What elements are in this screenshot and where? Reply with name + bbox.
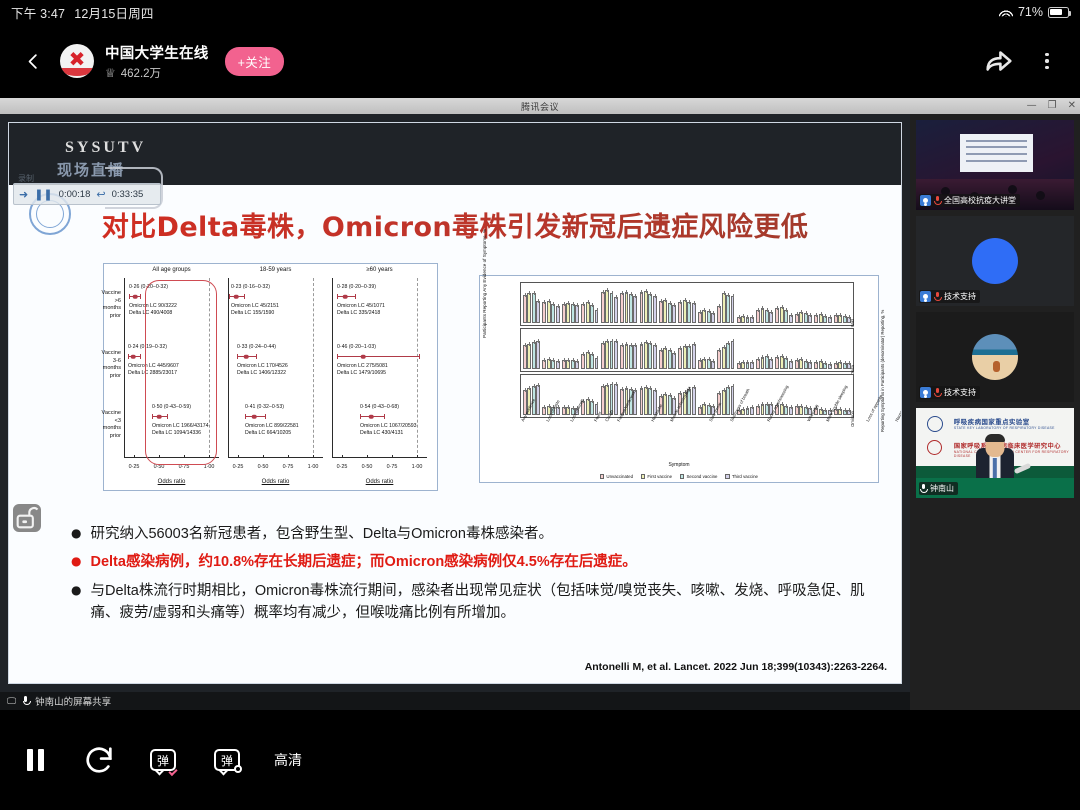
bar xyxy=(722,293,726,323)
bar xyxy=(726,343,730,369)
bar xyxy=(784,358,788,369)
row-estimate: 0·28 (0·20–0·39) xyxy=(337,284,376,290)
participant-name: 技术支持 xyxy=(944,291,976,302)
bar-group-row xyxy=(523,331,851,369)
bullet-text: Delta感染病例，约10.8%存在长期后遗症；而Omicron感染病例仅4.5… xyxy=(90,551,636,573)
bar xyxy=(595,358,599,369)
mic-active-icon xyxy=(920,484,927,494)
bar xyxy=(532,342,536,369)
bar xyxy=(640,344,644,369)
bar xyxy=(784,310,788,323)
bar xyxy=(702,310,706,323)
bar xyxy=(523,345,527,369)
bar-group xyxy=(737,285,754,323)
channel-meta: ♕ 462.2万 xyxy=(105,65,209,81)
bar xyxy=(640,292,644,323)
participant-tile[interactable]: 技术支持 xyxy=(916,216,1074,306)
bar-group xyxy=(601,331,618,369)
maximize-button[interactable]: ❐ xyxy=(1048,101,1057,111)
bar xyxy=(586,302,590,323)
bar-group xyxy=(542,331,559,369)
axis-tick-label: 0·25 xyxy=(337,464,348,470)
axis-tick xyxy=(417,455,418,458)
recording-label: 录制 xyxy=(18,173,34,184)
panel-baseline xyxy=(228,457,323,458)
bar xyxy=(838,315,842,323)
minimize-button[interactable]: — xyxy=(1027,101,1037,111)
bar xyxy=(838,362,842,369)
bar xyxy=(717,350,721,369)
status-date: 12月15日周四 xyxy=(74,3,153,22)
bar xyxy=(799,312,803,323)
bar xyxy=(629,345,633,369)
bar xyxy=(750,317,754,323)
axis-tick xyxy=(288,455,289,458)
axis-tick-label: 0·25 xyxy=(129,464,140,470)
bar xyxy=(834,315,838,323)
bar-group xyxy=(601,285,618,323)
bar xyxy=(828,317,832,323)
row-label: Vaccine>6monthsprior xyxy=(70,290,124,320)
bar xyxy=(672,353,676,369)
bar xyxy=(799,359,803,369)
participant-name: 全国高校抗疫大讲堂 xyxy=(944,195,1016,206)
follower-count: 462.2万 xyxy=(121,65,161,81)
bar xyxy=(601,343,605,369)
bar xyxy=(726,295,730,323)
participant-avatar-icon xyxy=(920,387,931,398)
row-estimate: 0·33 (0·24–0·44) xyxy=(237,344,276,350)
y-axis-label: Participants Reporting Any Evidence of S… xyxy=(482,248,487,338)
axis-tick xyxy=(367,455,368,458)
bar xyxy=(536,341,540,369)
row-counts: Omicron LC 1067/20593Delta LC 430/4131 xyxy=(360,423,417,438)
bar-group-row xyxy=(523,285,851,323)
avatar-logo-icon: ✖ xyxy=(69,49,86,69)
followers-icon: ♕ xyxy=(105,66,116,80)
bar xyxy=(562,304,566,324)
bar-group xyxy=(795,285,812,323)
bar xyxy=(625,292,629,323)
bar-group xyxy=(717,285,734,323)
row-counts: Omicron LC 45/2151Delta LC 155/1590 xyxy=(231,303,279,318)
bar xyxy=(780,356,784,369)
panel-baseline xyxy=(332,457,427,458)
bar xyxy=(769,359,773,369)
bar-chart-band: Delta xyxy=(520,328,854,372)
bar xyxy=(711,313,715,323)
point-estimate xyxy=(131,354,136,359)
highlight-box xyxy=(145,280,217,465)
bar xyxy=(590,305,594,323)
status-bar: 下午 3:47 12月15日周四 71% xyxy=(0,0,1080,24)
stage-projection xyxy=(960,134,1033,172)
window-controls: — ❐ ✕ xyxy=(1027,98,1076,114)
bar-group xyxy=(581,285,598,323)
bar xyxy=(843,316,847,323)
bar xyxy=(629,294,633,323)
bar xyxy=(737,317,741,323)
bar-group xyxy=(814,285,831,323)
bar xyxy=(780,307,784,323)
avatar-circle xyxy=(972,238,1018,284)
axis-tick-label: 0·75 xyxy=(387,464,398,470)
bar xyxy=(581,304,585,323)
panel-header: ≥60 years xyxy=(332,267,427,273)
bar-group xyxy=(659,331,676,369)
bar-group xyxy=(717,331,734,369)
bar-group xyxy=(756,285,773,323)
more-vertical-icon[interactable] xyxy=(1030,44,1064,78)
bar-group xyxy=(523,285,540,323)
bar xyxy=(610,341,614,370)
bar xyxy=(808,315,812,323)
axis-tick-label: 0·75 xyxy=(283,464,294,470)
axis-tick-label: 1·00 xyxy=(204,464,215,470)
bar xyxy=(601,292,605,323)
legend-swatch xyxy=(725,474,729,478)
bar xyxy=(536,301,540,323)
bar xyxy=(731,296,735,323)
rewind-icon[interactable]: ↩ xyxy=(96,188,105,201)
panel-axis xyxy=(124,278,125,458)
row-counts: Omicron LC 899/22581Delta LC 664/10205 xyxy=(245,423,299,438)
bar xyxy=(668,350,672,370)
axis-tick-label: 0·50 xyxy=(362,464,373,470)
bullet-dot-icon: ● xyxy=(71,580,81,625)
slide-figures: All age groups0·250·500·751·00Odds ratio… xyxy=(9,251,901,491)
bar xyxy=(542,360,546,370)
back-chevron-icon[interactable] xyxy=(6,34,60,88)
bar xyxy=(819,314,823,324)
slide-bullet: ●研究纳入56003名新冠患者，包含野生型、Delta与Omicron毒株感染者… xyxy=(71,523,871,545)
bar xyxy=(648,294,652,323)
axis-tick-label: 1·00 xyxy=(308,464,319,470)
bar xyxy=(741,316,745,323)
bar xyxy=(575,361,579,369)
bar xyxy=(765,310,769,323)
bar xyxy=(741,362,745,369)
point-estimate xyxy=(343,294,348,299)
axis-tick-label: 1·00 xyxy=(412,464,423,470)
bar-group xyxy=(756,331,773,369)
axis-tick xyxy=(342,455,343,458)
bar-group xyxy=(562,285,579,323)
pause-icon[interactable]: ❚❚ xyxy=(34,188,52,201)
screen-icon: 🖵 xyxy=(7,696,16,707)
bar xyxy=(614,297,618,323)
bar xyxy=(653,345,657,369)
total-time: 0:33:35 xyxy=(112,189,144,200)
legend-label: Second vaccine xyxy=(686,474,717,479)
bar xyxy=(547,301,551,323)
bar xyxy=(687,346,691,369)
battery-percent: 71% xyxy=(1018,5,1043,19)
participant-tile[interactable]: 技术支持 xyxy=(916,312,1074,402)
next-icon[interactable]: ➜ xyxy=(19,188,28,201)
bar xyxy=(527,344,531,369)
bar xyxy=(571,304,575,323)
unlock-icon[interactable] xyxy=(13,504,41,532)
axis-tick xyxy=(392,455,393,458)
bar xyxy=(731,341,735,369)
bar xyxy=(663,300,667,323)
wifi-icon xyxy=(999,7,1013,18)
pause-icon[interactable] xyxy=(18,743,52,777)
bar xyxy=(804,361,808,370)
bar xyxy=(610,293,614,323)
bar xyxy=(756,310,760,323)
bar xyxy=(605,290,609,323)
presentation-slide: SYSUTV 现场直播 录制 ➜ ❚❚ 0:00:18 ↩ 0:33:35 对比… xyxy=(8,122,902,684)
forest-panel: ≥60 years0·250·500·751·00Odds ratio0·28 … xyxy=(332,264,427,490)
bar xyxy=(566,360,570,370)
axis-tick xyxy=(238,455,239,458)
row-label: Vaccine3-6monthsprior xyxy=(70,350,124,380)
x-axis-title: Symptom xyxy=(480,462,878,468)
share-icon[interactable] xyxy=(982,44,1016,78)
participant-name-badge: 钟南山 xyxy=(919,482,958,495)
legend-item: Second vaccine xyxy=(680,474,717,479)
participant-name-badge: 技术支持 xyxy=(919,290,980,303)
bar-group xyxy=(640,285,657,323)
bar xyxy=(819,361,823,369)
axis-tick-label: 0·25 xyxy=(233,464,244,470)
bar-group xyxy=(698,331,715,369)
danmaku-toggle-icon[interactable]: 弹 xyxy=(146,743,180,777)
bar xyxy=(556,361,560,370)
panel-axis xyxy=(332,278,333,458)
bar xyxy=(789,361,793,369)
point-estimate xyxy=(369,414,374,419)
bar xyxy=(746,362,750,369)
bar-chart-band: Wild xyxy=(520,282,854,326)
bar xyxy=(765,356,769,369)
battery-icon xyxy=(1048,7,1069,18)
bar xyxy=(692,344,696,369)
legend-swatch xyxy=(600,474,604,478)
participant-name-badge: 全国高校抗疫大讲堂 xyxy=(919,194,1020,207)
bar xyxy=(808,362,812,369)
bar xyxy=(746,317,750,323)
bullet-dot-icon: ● xyxy=(71,523,81,545)
bar xyxy=(698,360,702,370)
row-estimate: 0·41 (0·32–0·53) xyxy=(245,404,284,410)
point-estimate xyxy=(244,354,249,359)
row-estimate: 0·46 (0·20–1·03) xyxy=(337,344,376,350)
header-actions xyxy=(982,44,1080,78)
panel-header: All age groups xyxy=(124,267,219,273)
bar xyxy=(523,295,527,324)
bar xyxy=(659,301,663,323)
bar-group xyxy=(659,285,676,323)
bar xyxy=(750,362,754,369)
meeting-window: 腾讯会议 — ❐ ✕ SYSUTV 现场直播 录制 ➜ ❚❚ 0:00:18 xyxy=(0,98,1080,710)
bar xyxy=(644,291,648,323)
status-bar-left: 下午 3:47 12月15日周四 xyxy=(0,3,154,22)
follow-button[interactable]: +关注 xyxy=(225,47,285,76)
bar xyxy=(633,345,637,369)
axis-tick xyxy=(313,455,314,458)
bar xyxy=(828,364,832,369)
bar xyxy=(586,352,590,369)
participant-tile[interactable]: 全国高校抗疫大讲堂 xyxy=(916,120,1074,210)
confidence-interval xyxy=(337,356,420,357)
legend-item: First vaccine xyxy=(641,474,672,479)
x-axis-labels: Any evidenceLoss of tasteLoss of smellFe… xyxy=(520,420,854,460)
bar-group xyxy=(640,331,657,369)
bar-group xyxy=(775,285,792,323)
bullet-text: 与Delta株流行时期相比，Omicron毒株流行期间，感染者出现常见症状（包括… xyxy=(90,580,871,625)
point-estimate xyxy=(234,294,239,299)
point-estimate xyxy=(361,354,366,359)
bar xyxy=(789,315,793,324)
bar xyxy=(581,354,585,369)
bar xyxy=(687,302,691,323)
legend-swatch xyxy=(680,474,684,478)
bar xyxy=(775,308,779,323)
quality-selector[interactable]: 高清 xyxy=(274,750,302,770)
participant-avatar-icon xyxy=(920,195,931,206)
participant-avatar-icon xyxy=(920,291,931,302)
bar-group xyxy=(814,331,831,369)
axis-title: Odds ratio xyxy=(228,479,323,485)
bar xyxy=(562,360,566,370)
bar-group xyxy=(795,331,812,369)
bar xyxy=(707,311,711,323)
participant-tile[interactable]: 呼吸疾病国家重点实验室STATE KEY LABORATORY OF RESPI… xyxy=(916,408,1074,498)
symptom-bar-chart-figure: WildDeltaOmicronParticipants Reporting A… xyxy=(479,275,879,483)
forest-plot-figure: All age groups0·250·500·751·00Odds ratio… xyxy=(103,263,438,491)
bar xyxy=(547,359,551,369)
bar xyxy=(605,341,609,370)
axis-tick-label: 0·50 xyxy=(258,464,269,470)
bar-group xyxy=(620,285,637,323)
panel-axis xyxy=(228,278,229,458)
forest-panel: 18-59 years0·250·500·751·00Odds ratio0·2… xyxy=(228,264,323,490)
bar xyxy=(672,305,676,323)
bar xyxy=(620,293,624,323)
bar xyxy=(795,314,799,324)
shared-screen-stage: SYSUTV 现场直播 录制 ➜ ❚❚ 0:00:18 ↩ 0:33:35 对比… xyxy=(0,114,910,710)
slide-title: 对比Delta毒株，Omicron毒株引发新冠后遗症风险更低 xyxy=(9,205,901,244)
bar xyxy=(711,361,715,370)
point-estimate xyxy=(133,294,138,299)
recording-toolbar[interactable]: 录制 ➜ ❚❚ 0:00:18 ↩ 0:33:35 xyxy=(13,183,161,205)
bar xyxy=(590,354,594,369)
bar xyxy=(575,305,579,323)
bar xyxy=(620,345,624,369)
bar-group xyxy=(775,331,792,369)
bar-group xyxy=(620,331,637,369)
player-control-bar: 弹 弹 高清 xyxy=(0,710,1080,810)
bar xyxy=(702,359,706,369)
row-counts: Omicron LC 45/1071Delta LC 335/2418 xyxy=(337,303,385,318)
bar xyxy=(659,350,663,369)
bar xyxy=(633,296,637,323)
refresh-icon[interactable] xyxy=(82,743,116,777)
null-line xyxy=(417,278,418,458)
bar xyxy=(804,313,808,323)
mic-muted-icon xyxy=(934,292,941,302)
danmaku-settings-icon[interactable]: 弹 xyxy=(210,743,244,777)
slide-bullets: ●研究纳入56003名新冠患者，包含野生型、Delta与Omicron毒株感染者… xyxy=(71,523,871,631)
bullet-text: 研究纳入56003名新冠患者，包含野生型、Delta与Omicron毒株感染者。 xyxy=(90,523,552,545)
bar xyxy=(653,296,657,323)
participant-name: 技术支持 xyxy=(944,387,976,398)
avatar-ring xyxy=(60,68,94,76)
axis-tick xyxy=(263,455,264,458)
null-line xyxy=(313,278,314,458)
bar xyxy=(678,348,682,369)
legend-item: Unvaccinated xyxy=(600,474,633,479)
panel-header: 18-59 years xyxy=(228,267,323,273)
channel-header: ✖ 中国大学生在线 ♕ 462.2万 +关注 xyxy=(0,24,1080,98)
row-label: Vaccine<3monthsprior xyxy=(70,410,124,440)
bar-group xyxy=(698,285,715,323)
mic-muted-icon xyxy=(22,696,29,706)
bar xyxy=(614,384,618,415)
point-estimate xyxy=(252,414,257,419)
bar xyxy=(668,303,672,323)
participant-name-badge: 技术支持 xyxy=(919,386,980,399)
mic-muted-icon xyxy=(934,388,941,398)
channel-name: 中国大学生在线 xyxy=(105,42,209,63)
meeting-titlebar: 腾讯会议 — ❐ ✕ xyxy=(0,98,1080,114)
slide-citation: Antonelli M, et al. Lancet. 2022 Jun 18;… xyxy=(585,661,887,673)
bar xyxy=(683,300,687,323)
bar xyxy=(566,303,570,323)
bar xyxy=(614,341,618,369)
bar xyxy=(717,306,721,323)
bar xyxy=(663,348,667,369)
bar xyxy=(722,347,726,369)
bar xyxy=(551,304,555,324)
axis-title: Odds ratio xyxy=(332,479,427,485)
bar xyxy=(648,343,652,369)
channel-avatar[interactable]: ✖ xyxy=(60,44,94,78)
bar xyxy=(551,360,555,370)
bar xyxy=(556,306,560,323)
broadcast-brand: SYSUTV xyxy=(65,139,146,157)
slide-bullet: ●Delta感染病例，约10.8%存在长期后遗症；而Omicron感染病例仅4.… xyxy=(71,551,871,573)
bar-group xyxy=(678,331,695,369)
live-stream-app: 下午 3:47 12月15日周四 71% ✖ 中国大学生在线 ♕ 462.2万 … xyxy=(0,0,1080,810)
bar xyxy=(814,315,818,323)
bar xyxy=(707,359,711,369)
channel-info: 中国大学生在线 ♕ 462.2万 xyxy=(105,42,209,81)
bar-group xyxy=(737,331,754,369)
bar xyxy=(644,342,648,369)
legend-label: Third vaccine xyxy=(732,474,758,479)
bar xyxy=(775,357,779,369)
bar xyxy=(823,363,827,369)
meeting-title: 腾讯会议 xyxy=(521,100,559,113)
bar xyxy=(769,312,773,323)
bar xyxy=(595,310,599,323)
bar-group xyxy=(542,285,559,323)
elapsed-time: 0:00:18 xyxy=(59,189,91,200)
bar xyxy=(625,344,629,369)
bar xyxy=(527,293,531,323)
screen-share-footer: 🖵 钟南山的屏幕共享 xyxy=(0,692,910,710)
chart-legend: UnvaccinatedFirst vaccineSecond vaccineT… xyxy=(480,474,878,479)
close-button[interactable]: ✕ xyxy=(1068,101,1076,111)
bar xyxy=(737,363,741,369)
bar-group xyxy=(581,331,598,369)
bar xyxy=(795,360,799,370)
bar xyxy=(834,363,838,369)
